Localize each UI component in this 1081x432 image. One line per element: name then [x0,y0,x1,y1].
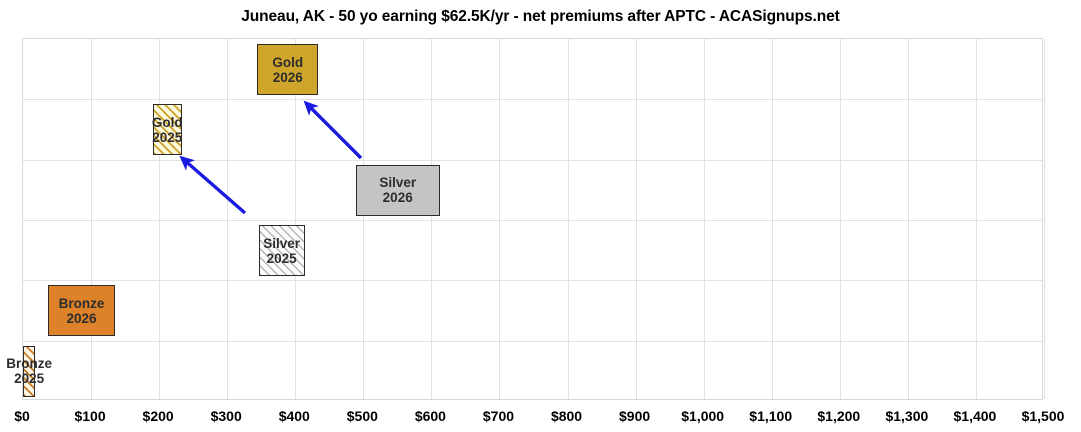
x-tick-label: $0 [14,408,30,424]
gridline-vertical [840,39,841,399]
x-tick-label: $1,100 [749,408,792,424]
x-tick-label: $700 [483,408,514,424]
bar-label-year: 2026 [379,190,416,205]
x-tick-label: $100 [74,408,105,424]
chart-root: Juneau, AK - 50 yo earning $62.5K/yr - n… [0,0,1081,432]
gridline-horizontal [23,220,1042,221]
bar-label-gold-2025: Gold2025 [152,115,183,145]
bar-label-silver-2026: Silver2026 [379,175,416,205]
x-tick-label: $1,200 [817,408,860,424]
bar-label-gold-2026: Gold2026 [272,55,303,85]
bar-label-metal: Gold [152,115,183,130]
gridline-vertical [1044,39,1045,399]
bar-label-year: 2026 [272,70,303,85]
x-tick-label: $200 [143,408,174,424]
gridline-vertical [976,39,977,399]
gridline-vertical [772,39,773,399]
bar-label-metal: Gold [272,55,303,70]
x-tick-label: $800 [551,408,582,424]
bar-silver-2026: Silver2026 [356,165,440,216]
gridline-vertical [908,39,909,399]
bar-label-year: 2025 [6,371,52,386]
gridline-vertical [568,39,569,399]
bar-label-year: 2026 [59,311,105,326]
gridline-vertical [227,39,228,399]
gridline-vertical [704,39,705,399]
x-tick-label: $1,400 [954,408,997,424]
x-tick-label: $500 [347,408,378,424]
gridline-vertical [431,39,432,399]
bar-label-bronze-2025: Bronze2025 [6,356,52,386]
bar-label-metal: Bronze [59,296,105,311]
bar-label-silver-2025: Silver2025 [263,236,300,266]
gridline-horizontal [23,280,1042,281]
bar-gold-2026: Gold2026 [257,44,318,95]
x-tick-label: $1,300 [885,408,928,424]
bar-label-metal: Bronze [6,356,52,371]
bar-silver-2025: Silver2025 [259,225,305,276]
x-tick-label: $900 [619,408,650,424]
x-tick-label: $600 [415,408,446,424]
x-tick-label: $1,000 [681,408,724,424]
bar-label-metal: Silver [263,236,300,251]
gridline-horizontal [23,341,1042,342]
bar-label-metal: Silver [379,175,416,190]
bar-label-year: 2025 [152,130,183,145]
bar-label-bronze-2026: Bronze2026 [59,296,105,326]
gridline-vertical [636,39,637,399]
gridline-vertical [499,39,500,399]
bar-bronze-2026: Bronze2026 [48,285,115,336]
x-axis: $0$100$200$300$400$500$600$700$800$900$1… [0,402,1081,432]
gridline-horizontal [23,160,1042,161]
x-tick-label: $1,500 [1022,408,1065,424]
bar-gold-2025: Gold2025 [153,104,182,155]
x-tick-label: $300 [211,408,242,424]
bar-bronze-2025: Bronze2025 [23,346,35,397]
gridline-horizontal [23,99,1042,100]
gridline-vertical [159,39,160,399]
plot-area: Gold2026Gold2025Silver2026Silver2025Bron… [22,38,1043,400]
gridline-vertical [363,39,364,399]
bar-label-year: 2025 [263,251,300,266]
gridline-vertical [91,39,92,399]
x-tick-label: $400 [279,408,310,424]
chart-title: Juneau, AK - 50 yo earning $62.5K/yr - n… [0,8,1081,26]
